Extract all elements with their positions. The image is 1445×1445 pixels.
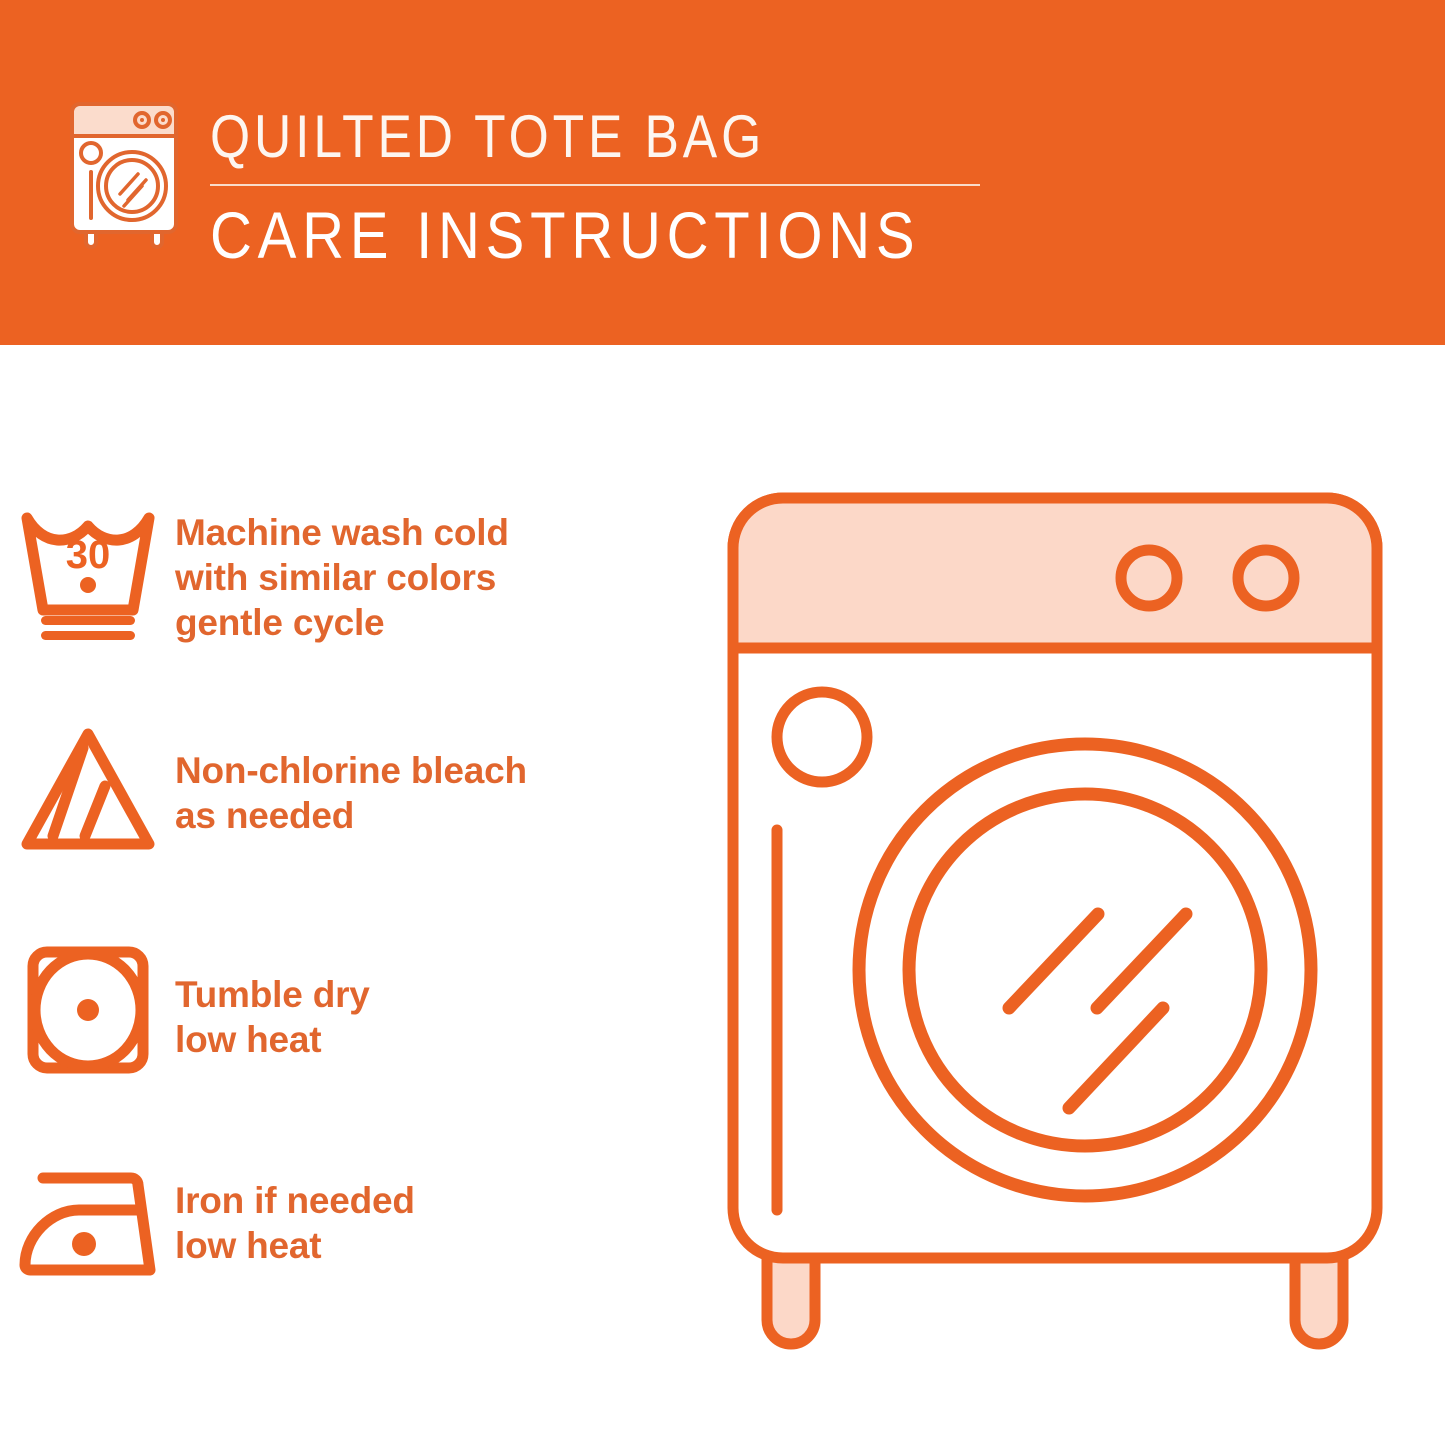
care-label-machine-wash: Machine wash cold with similar colors ge… bbox=[175, 490, 509, 645]
machine-knob-1 bbox=[1121, 550, 1177, 606]
washing-machine-logo-icon bbox=[64, 98, 184, 250]
care-label-line: low heat bbox=[175, 1017, 370, 1062]
wash-temperature-value: 30 bbox=[65, 533, 110, 577]
iron-icon bbox=[0, 1142, 175, 1302]
header-banner: QUILTED TOTE BAG CARE INSTRUCTIONS bbox=[0, 0, 1445, 345]
care-label-line: Iron if needed bbox=[175, 1178, 415, 1223]
care-label-line: as needed bbox=[175, 793, 527, 838]
header-text-block: QUILTED TOTE BAG CARE INSTRUCTIONS bbox=[210, 100, 1000, 276]
care-row-bleach: Non-chlorine bleach as needed bbox=[0, 710, 700, 870]
page-title: QUILTED TOTE BAG bbox=[210, 100, 889, 174]
care-row-tumble-dry: Tumble dry low heat bbox=[0, 930, 700, 1090]
care-label-line: gentle cycle bbox=[175, 600, 509, 645]
bleach-triangle-icon bbox=[0, 710, 175, 870]
care-row-iron: Iron if needed low heat bbox=[0, 1142, 700, 1302]
care-label-line: with similar colors bbox=[175, 555, 509, 600]
header-divider bbox=[210, 184, 980, 186]
tumble-dry-icon bbox=[0, 930, 175, 1090]
care-label-iron: Iron if needed low heat bbox=[175, 1142, 415, 1268]
wash-tub-30-icon: 30 bbox=[0, 490, 175, 650]
care-label-line: Tumble dry bbox=[175, 972, 370, 1017]
care-label-bleach: Non-chlorine bleach as needed bbox=[175, 710, 527, 838]
care-label-line: low heat bbox=[175, 1223, 415, 1268]
care-row-machine-wash: 30 Machine wash cold with similar colors… bbox=[0, 490, 700, 650]
page-subtitle: CARE INSTRUCTIONS bbox=[210, 194, 905, 276]
machine-leg-right bbox=[1295, 1250, 1343, 1344]
care-label-line: Non-chlorine bleach bbox=[175, 748, 527, 793]
care-label-line: Machine wash cold bbox=[175, 510, 509, 555]
machine-knob-2 bbox=[1238, 550, 1294, 606]
care-label-tumble-dry: Tumble dry low heat bbox=[175, 930, 370, 1062]
washing-machine-illustration bbox=[715, 480, 1395, 1380]
machine-leg-left bbox=[767, 1250, 815, 1344]
